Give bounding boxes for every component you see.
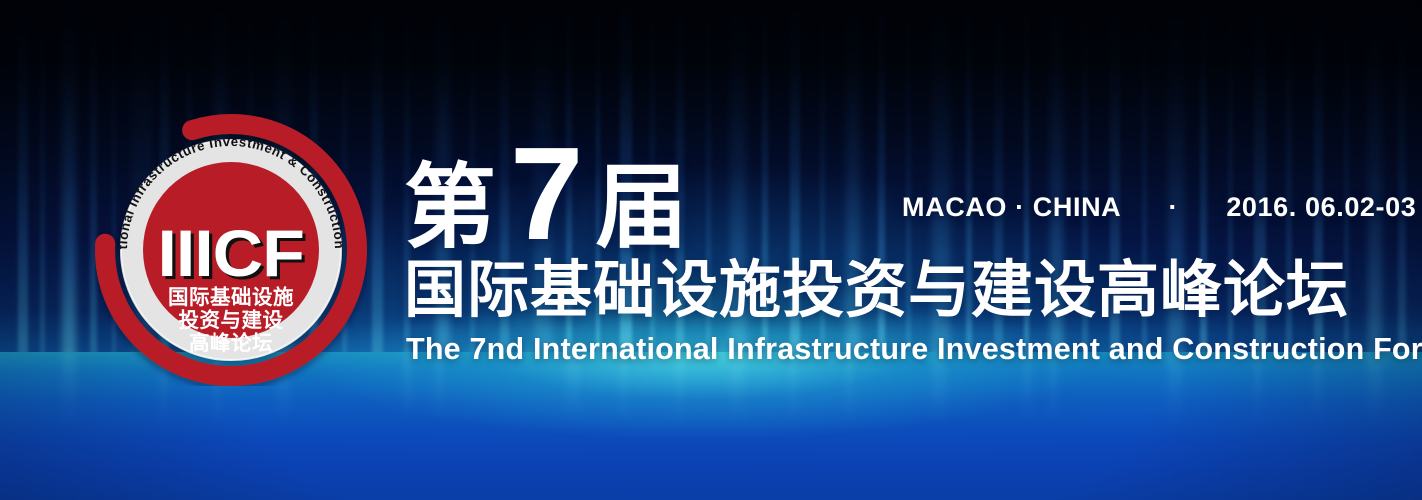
event-location: MACAO · CHINA [902, 192, 1120, 222]
forum-title-cn: 国际基础设施投资与建设高峰论坛 [404, 258, 1349, 324]
event-date: 2016. 06.02-03 [1226, 192, 1416, 222]
event-banner: International Infrastructure Investment … [0, 0, 1422, 500]
meta-separator: · [1163, 192, 1185, 222]
forum-title-en: The 7nd International Infrastructure Inv… [406, 332, 1422, 367]
edition-title: 第 7 届 [404, 128, 687, 246]
event-meta: MACAO · CHINA · 2016. 06.02-03 [902, 192, 1416, 223]
edition-suffix: 届 [595, 162, 687, 254]
edition-number: 7 [510, 128, 579, 260]
edition-prefix: 第 [404, 162, 496, 254]
